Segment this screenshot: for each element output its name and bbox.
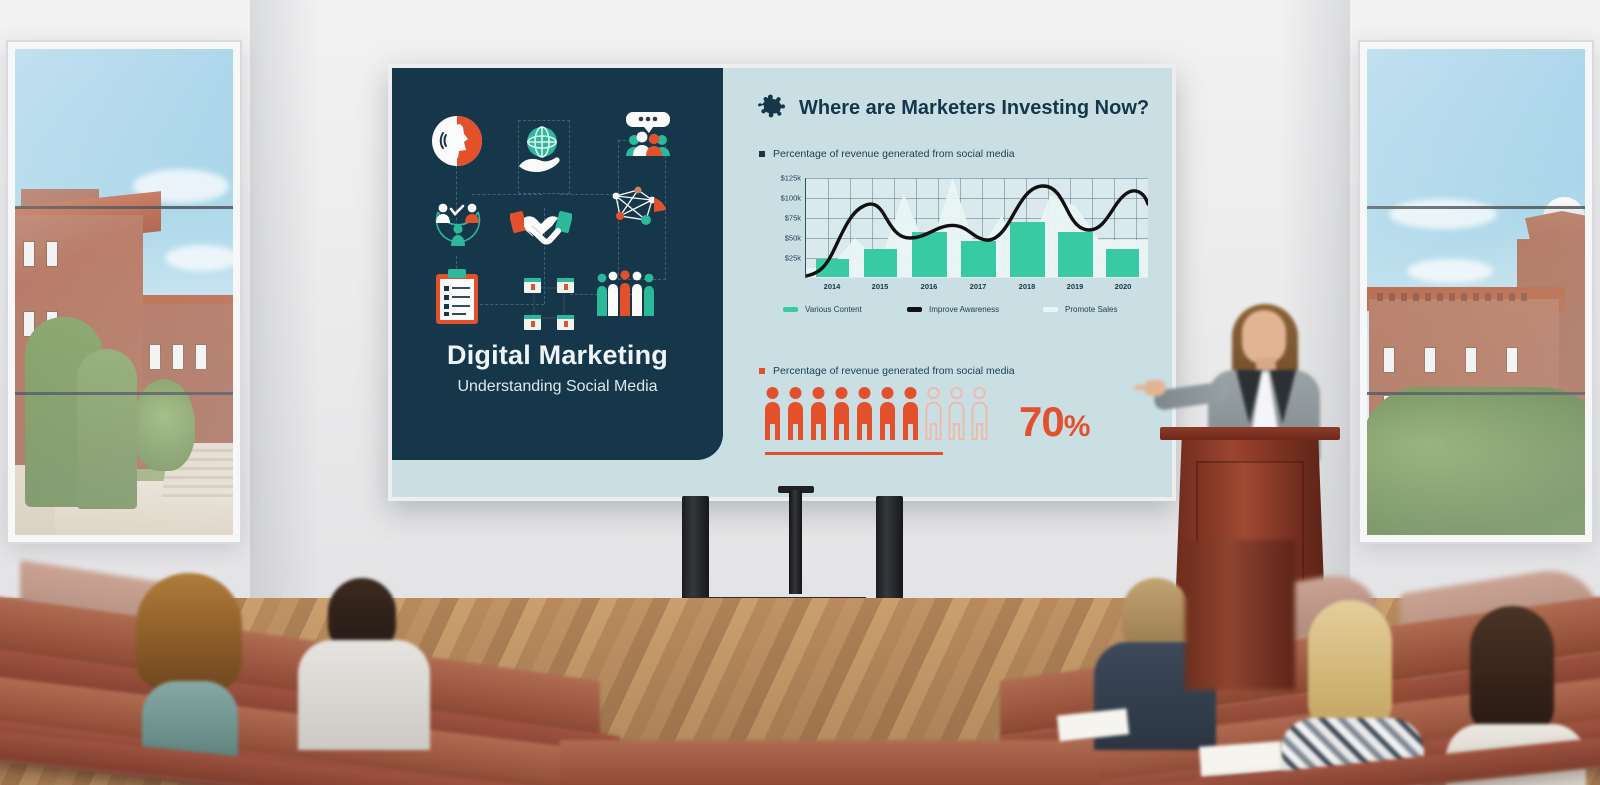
network-nodes-icon: [608, 184, 670, 243]
x-tick-label: 2018: [1019, 282, 1036, 291]
person-figure-filled: [878, 386, 897, 442]
window-right-glass: [1367, 49, 1585, 535]
chart-x-axis: 2014 2015 2016 2017 2018 2019 2020: [805, 282, 1148, 298]
x-tick-label: 2017: [970, 282, 987, 291]
attendee-2: [290, 578, 440, 748]
door[interactable]: [1185, 540, 1295, 690]
chart-legend: Various Content Improve Awareness Promot…: [783, 305, 1151, 314]
slide-canvas: Digital Marketing Understanding Social M…: [392, 68, 1172, 497]
speaking-head-icon: [430, 114, 484, 173]
slide-heading: Where are Marketers Investing Now?: [757, 94, 1149, 122]
globe-in-hand-icon: [515, 122, 571, 183]
presenter-pointing-finger: [1134, 385, 1148, 390]
attendee-top: [298, 640, 430, 750]
legend-label: Improve Awareness: [929, 305, 999, 314]
x-tick-label: 2015: [872, 282, 889, 291]
attendee-hair: [1122, 578, 1190, 652]
section-one-label: Percentage of revenue generated from soc…: [759, 148, 1015, 160]
attendee-1: [118, 573, 258, 753]
y-tick-label: $125k: [781, 174, 801, 183]
chart-plot-area: [805, 178, 1148, 278]
connector-line: [472, 194, 542, 195]
pictogram-figures: [763, 386, 989, 442]
revenue-chart: $125k $100k $75k $50k $25k: [763, 178, 1148, 303]
legend-swatch-icon: [783, 307, 798, 312]
handshake-icon: [510, 204, 572, 259]
puzzle-piece-icon: [757, 94, 785, 122]
slide-title: Digital Marketing: [392, 340, 723, 371]
legend-item-promote-sales: Promote Sales: [1043, 305, 1117, 314]
slide-heading-text: Where are Marketers Investing Now?: [799, 97, 1149, 120]
pictogram-underline: [765, 452, 943, 455]
x-tick-label: 2014: [824, 282, 841, 291]
improve-awareness-line: [806, 178, 1148, 278]
slide-subtitle: Understanding Social Media: [392, 378, 723, 396]
chart-y-axis: $125k $100k $75k $50k $25k: [763, 178, 801, 278]
x-tick-label: 2019: [1067, 282, 1084, 291]
desk-row-center: [560, 740, 1100, 785]
person-figure-filled: [786, 386, 805, 442]
attendee-hair: [1308, 600, 1392, 730]
window-right: [1360, 42, 1592, 542]
attendee-hair: [136, 573, 242, 691]
legend-item-various-content: Various Content: [783, 305, 907, 314]
legend-label: Various Content: [805, 305, 862, 314]
y-tick-label: $50k: [785, 234, 801, 243]
slide-right-content: Where are Marketers Investing Now? Perce…: [737, 68, 1172, 497]
percent-value: 70%: [1019, 398, 1089, 446]
legend-swatch-icon: [1043, 307, 1058, 312]
person-figure-filled: [855, 386, 874, 442]
clipboard-checklist-icon: [434, 268, 480, 331]
x-tick-label: 2020: [1115, 282, 1132, 291]
presentation-display[interactable]: Digital Marketing Understanding Social M…: [388, 64, 1176, 501]
cart-center-post: [789, 490, 802, 594]
section-two-text: Percentage of revenue generated from soc…: [773, 365, 1015, 377]
wall-shadow-left: [250, 0, 320, 600]
icon-grid: [410, 108, 706, 323]
glass-reflection: [15, 49, 233, 535]
y-tick-label: $100k: [781, 194, 801, 203]
bullet-square-icon: [759, 151, 765, 157]
slide-left-panel: Digital Marketing Understanding Social M…: [392, 68, 723, 460]
people-row-icon: [596, 268, 656, 325]
person-figure-outline: [970, 386, 989, 442]
glass-reflection: [1367, 49, 1585, 535]
y-tick-label: $75k: [785, 214, 801, 223]
person-figure-outline: [924, 386, 943, 442]
legend-item-improve-awareness: Improve Awareness: [907, 305, 1043, 314]
section-one-text: Percentage of revenue generated from soc…: [773, 148, 1015, 160]
bullet-square-icon: [759, 368, 765, 374]
group-chat-icon: [622, 110, 674, 163]
y-tick-label: $25k: [785, 254, 801, 263]
x-tick-label: 2016: [921, 282, 938, 291]
person-figure-outline: [947, 386, 966, 442]
legend-label: Promote Sales: [1065, 305, 1117, 314]
legend-swatch-icon: [907, 307, 922, 312]
presenter-head: [1242, 310, 1286, 364]
people-check-icon: [432, 196, 484, 255]
attendee-hair: [1470, 606, 1554, 734]
lecture-hall-scene: Digital Marketing Understanding Social M…: [0, 0, 1600, 785]
boxes-distribution-icon: [522, 276, 578, 337]
section-two-label: Percentage of revenue generated from soc…: [759, 365, 1015, 377]
podium-top: [1160, 427, 1340, 440]
person-figure-filled: [832, 386, 851, 442]
window-left-glass: [15, 49, 233, 535]
person-figure-filled: [809, 386, 828, 442]
window-left: [8, 42, 240, 542]
person-figure-filled: [901, 386, 920, 442]
person-figure-filled: [763, 386, 782, 442]
